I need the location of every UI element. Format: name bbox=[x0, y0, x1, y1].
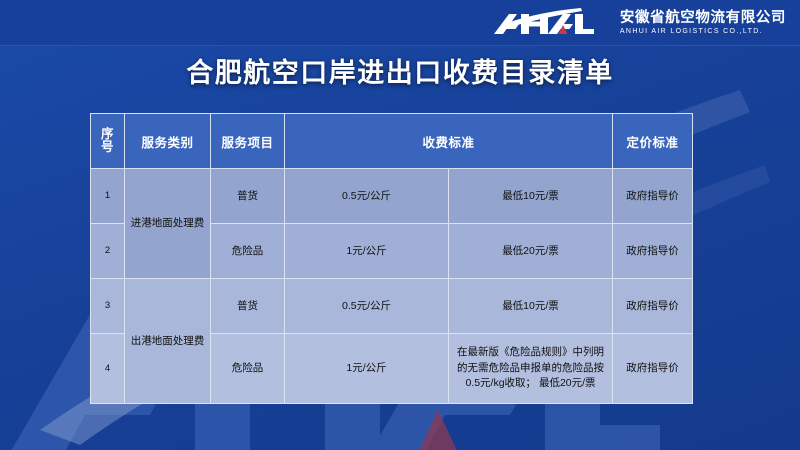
ahal-logo-icon bbox=[492, 8, 610, 38]
column-header-item: 服务项目 bbox=[211, 114, 285, 169]
cell-rate: 1元/公斤 bbox=[285, 224, 449, 279]
seq-label-line2: 号 bbox=[101, 140, 114, 154]
cell-item: 普货 bbox=[211, 279, 285, 334]
slide-canvas: 安徽省航空物流有限公司 ANHUI AIR LOGISTICS CO.,LTD.… bbox=[0, 0, 800, 450]
cell-category: 进港地面处理费 bbox=[125, 169, 211, 279]
cell-item: 普货 bbox=[211, 169, 285, 224]
brand-text: 安徽省航空物流有限公司 ANHUI AIR LOGISTICS CO.,LTD. bbox=[620, 11, 786, 35]
cell-item: 危险品 bbox=[211, 224, 285, 279]
cell-rate: 1元/公斤 bbox=[285, 334, 449, 404]
cell-pricing: 政府指导价 bbox=[613, 169, 693, 224]
cell-minimum: 最低20元/票 bbox=[449, 224, 613, 279]
cell-pricing: 政府指导价 bbox=[613, 224, 693, 279]
cell-sequence: 4 bbox=[91, 334, 125, 404]
company-name-en: ANHUI AIR LOGISTICS CO.,LTD. bbox=[620, 28, 786, 35]
cell-pricing: 政府指导价 bbox=[613, 334, 693, 404]
cell-minimum: 在最新版《危险品规则》中列明的无需危险品申报单的危险品按0.5元/kg收取； 最… bbox=[449, 334, 613, 404]
cell-minimum: 最低10元/票 bbox=[449, 169, 613, 224]
cell-rate: 0.5元/公斤 bbox=[285, 169, 449, 224]
table-body: 1 进港地面处理费 普货 0.5元/公斤 最低10元/票 政府指导价 2 危险品… bbox=[91, 169, 693, 404]
fee-catalog-table: 序号 服务类别 服务项目 收费标准 定价标准 1 进港地面处理费 普货 0.5元… bbox=[90, 113, 693, 404]
table-header-row: 序号 服务类别 服务项目 收费标准 定价标准 bbox=[91, 114, 693, 169]
cell-category: 出港地面处理费 bbox=[125, 279, 211, 404]
fee-catalog-table-container: 序号 服务类别 服务项目 收费标准 定价标准 1 进港地面处理费 普货 0.5元… bbox=[90, 113, 692, 404]
cell-minimum: 最低10元/票 bbox=[449, 279, 613, 334]
table-row: 1 进港地面处理费 普货 0.5元/公斤 最低10元/票 政府指导价 bbox=[91, 169, 693, 224]
seq-label-line1: 序 bbox=[101, 127, 114, 141]
cell-pricing: 政府指导价 bbox=[613, 279, 693, 334]
column-header-sequence: 序号 bbox=[91, 114, 125, 169]
page-title: 合肥航空口岸进出口收费目录清单 bbox=[0, 58, 800, 89]
cell-sequence: 2 bbox=[91, 224, 125, 279]
cell-sequence: 1 bbox=[91, 169, 125, 224]
company-name-cn: 安徽省航空物流有限公司 bbox=[620, 11, 786, 26]
header-bar: 安徽省航空物流有限公司 ANHUI AIR LOGISTICS CO.,LTD. bbox=[0, 0, 800, 46]
cell-item: 危险品 bbox=[211, 334, 285, 404]
table-row: 3 出港地面处理费 普货 0.5元/公斤 最低10元/票 政府指导价 bbox=[91, 279, 693, 334]
cell-rate: 0.5元/公斤 bbox=[285, 279, 449, 334]
column-header-pricing-standard: 定价标准 bbox=[613, 114, 693, 169]
table-header: 序号 服务类别 服务项目 收费标准 定价标准 bbox=[91, 114, 693, 169]
cell-sequence: 3 bbox=[91, 279, 125, 334]
column-header-category: 服务类别 bbox=[125, 114, 211, 169]
brand-lockup: 安徽省航空物流有限公司 ANHUI AIR LOGISTICS CO.,LTD. bbox=[492, 8, 786, 38]
column-header-fee-standard: 收费标准 bbox=[285, 114, 613, 169]
